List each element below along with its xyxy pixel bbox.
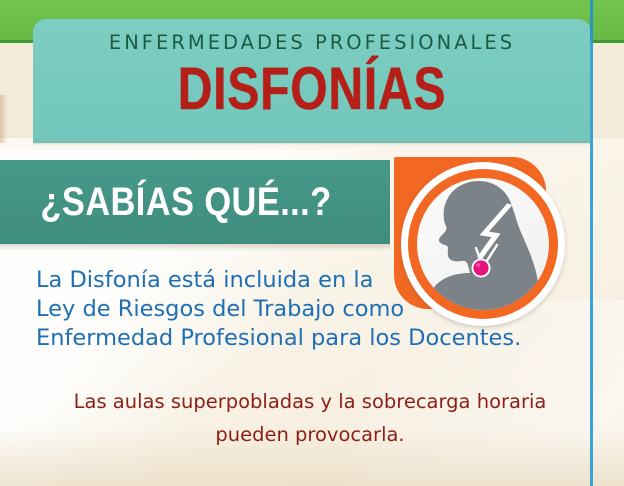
callout-band-shadow [0,244,390,251]
infographic-poster: ENFERMEDADES PROFESIONALES DISFONÍAS ¿SA… [0,0,624,486]
right-vertical-rule [590,0,593,486]
body-paragraph-blue: La Disfonía está incluida en la Ley de R… [36,266,556,353]
body-red-line-2: pueden provocarla. [30,418,590,451]
right-vertical-rule-top-segment [590,0,593,42]
left-edge-shadow [0,95,8,143]
body-paragraph-red: Las aulas superpobladas y la sobrecarga … [30,385,590,451]
body-blue-line-1: La Disfonía está incluida en la [36,266,556,295]
header-panel-shadow [33,141,591,147]
body-red-line-1: Las aulas superpobladas y la sobrecarga … [30,385,590,418]
callout-label: ¿SABÍAS QUÉ...? [26,174,346,230]
header-eyebrow: ENFERMEDADES PROFESIONALES [33,31,591,54]
body-blue-line-2: Ley de Riesgos del Trabajo como [36,295,556,324]
page-title: DISFONÍAS [89,58,535,120]
body-blue-line-3: Enfermedad Profesional para los Docentes… [36,324,556,353]
